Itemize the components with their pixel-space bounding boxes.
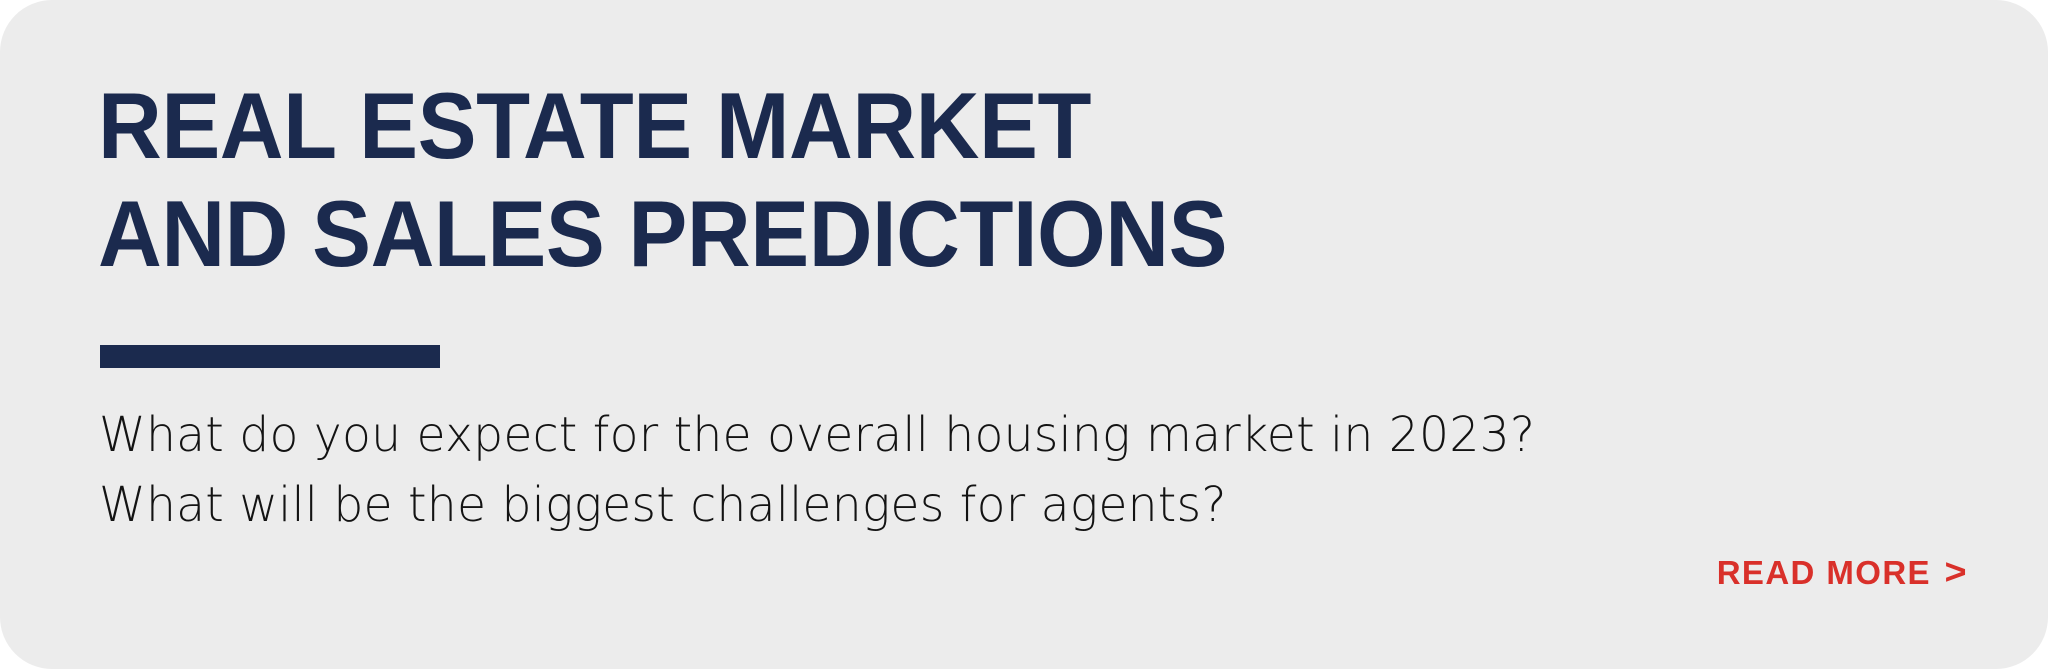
body-line-1: What do you expect for the overall housi… — [99, 400, 1774, 470]
headline-line-1: REAL ESTATE MARKET — [98, 72, 1508, 180]
promo-card: REAL ESTATE MARKET AND SALES PREDICTIONS… — [0, 0, 2048, 669]
chevron-right-icon: > — [1944, 554, 1966, 590]
title-divider-bar — [100, 345, 440, 368]
body-line-2: What will be the biggest challenges for … — [99, 470, 1774, 540]
read-more-link[interactable]: READ MORE > — [1717, 554, 1966, 592]
body-copy: What do you expect for the overall housi… — [99, 400, 1799, 540]
read-more-label: READ MORE — [1717, 554, 1931, 592]
headline-line-2: AND SALES PREDICTIONS — [98, 180, 1508, 288]
page-title: REAL ESTATE MARKET AND SALES PREDICTIONS — [98, 72, 1598, 288]
